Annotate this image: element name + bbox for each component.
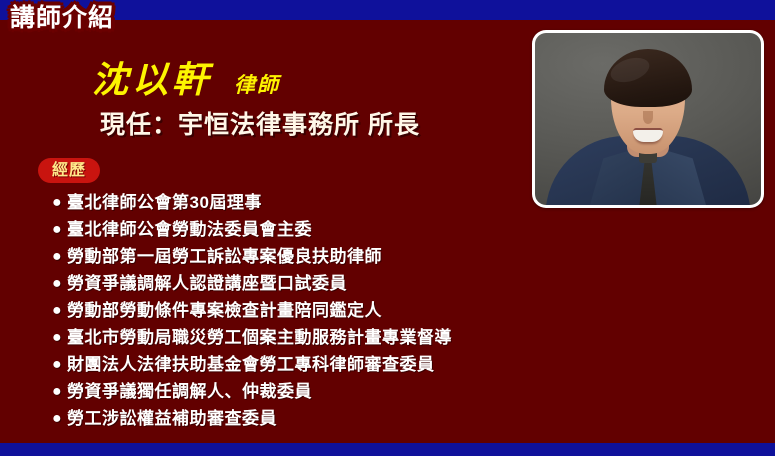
speaker-name-row: 沈以軒 律師 xyxy=(92,60,280,105)
list-item-label: 勞資爭議調解人認證講座暨口試委員 xyxy=(67,270,347,297)
speaker-intro-slide: 講師介紹 沈以軒 律師 現任：宇恒法律事務所 所長 經歷 ● 臺北律師公會第30… xyxy=(0,0,775,456)
list-item-label: 勞動部勞動條件專案檢查計畫陪同鑑定人 xyxy=(67,297,382,324)
speaker-role: 律師 xyxy=(234,65,280,105)
experience-badge-label: 經歷 xyxy=(52,163,86,179)
list-item: ● 勞動部第一屆勞工訴訟專案優良扶助律師 xyxy=(52,243,522,270)
list-item-label: 臺北律師公會勞動法委員會主委 xyxy=(67,216,312,243)
experience-list: ● 臺北律師公會第30屆理事 ● 臺北律師公會勞動法委員會主委 ● 勞動部第一屆… xyxy=(52,189,522,432)
list-item: ● 勞工涉訟權益補助審查委員 xyxy=(52,405,522,432)
list-item-label: 勞動部第一屆勞工訴訟專案優良扶助律師 xyxy=(67,243,382,270)
bullet-icon: ● xyxy=(52,243,67,270)
list-item: ● 臺北律師公會勞動法委員會主委 xyxy=(52,216,522,243)
list-item-label: 勞工涉訟權益補助審查委員 xyxy=(67,405,277,432)
speaker-name: 沈以軒 xyxy=(92,60,212,100)
portrait-mouth-shape xyxy=(633,128,663,142)
list-item: ● 勞資爭議調解人認證講座暨口試委員 xyxy=(52,270,522,297)
portrait-hair-shape xyxy=(604,49,692,107)
bullet-icon: ● xyxy=(52,270,67,297)
page-title: 講師介紹 xyxy=(10,3,114,34)
speaker-photo-frame xyxy=(532,30,764,208)
list-item: ● 勞動部勞動條件專案檢查計畫陪同鑑定人 xyxy=(52,297,522,324)
bullet-icon: ● xyxy=(52,189,67,216)
list-item: ● 臺北市勞動局職災勞工個案主動服務計畫專業督導 xyxy=(52,324,522,351)
list-item-label: 臺北律師公會第30屆理事 xyxy=(67,189,262,216)
speaker-portrait-image xyxy=(535,33,761,205)
speaker-position: 現任：宇恒法律事務所 所長 xyxy=(100,105,420,141)
list-item-label: 臺北市勞動局職災勞工個案主動服務計畫專業督導 xyxy=(67,324,452,351)
bullet-icon: ● xyxy=(52,324,67,351)
bottom-accent-band xyxy=(0,443,775,456)
portrait-nose-shape xyxy=(643,111,653,124)
bullet-icon: ● xyxy=(52,378,67,405)
list-item: ● 財團法人法律扶助基金會勞工專科律師審查委員 xyxy=(52,351,522,378)
bullet-icon: ● xyxy=(52,405,67,432)
experience-badge: 經歷 xyxy=(38,158,100,183)
list-item-label: 財團法人法律扶助基金會勞工專科律師審查委員 xyxy=(67,351,435,378)
top-accent-band xyxy=(0,0,775,20)
list-item-label: 勞資爭議獨任調解人、仲裁委員 xyxy=(67,378,312,405)
bullet-icon: ● xyxy=(52,297,67,324)
list-item: ● 臺北律師公會第30屆理事 xyxy=(52,189,522,216)
bullet-icon: ● xyxy=(52,351,67,378)
bullet-icon: ● xyxy=(52,216,67,243)
list-item: ● 勞資爭議獨任調解人、仲裁委員 xyxy=(52,378,522,405)
